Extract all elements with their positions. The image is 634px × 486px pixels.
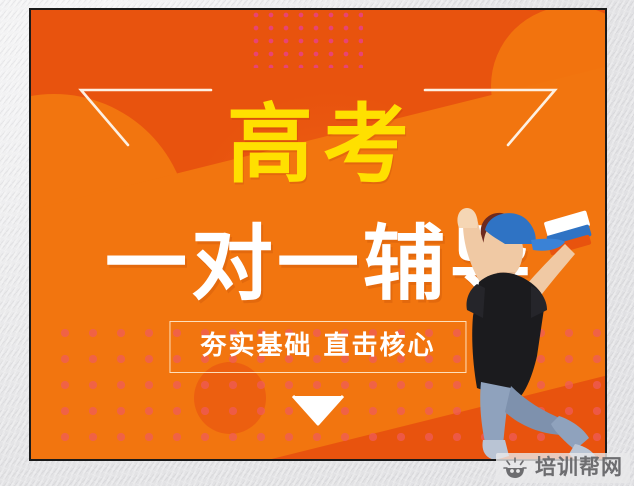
- watermark-text: 培训帮网: [535, 456, 623, 479]
- tagline-text: 夯实基础 直击核心: [200, 331, 435, 361]
- jumping-student-illustration: [419, 206, 605, 459]
- watermark: 培训帮网: [496, 453, 630, 483]
- page-title-primary: 高考: [31, 102, 605, 188]
- promo-banner: 高考 一对一辅导 夯实基础 直击核心: [31, 10, 605, 459]
- sun-face-icon: [502, 457, 528, 479]
- dot-grid-pink-icon: [253, 12, 363, 68]
- poster-page: 高考 一对一辅导 夯实基础 直击核心: [0, 0, 634, 486]
- chevron-down-icon: [289, 393, 347, 427]
